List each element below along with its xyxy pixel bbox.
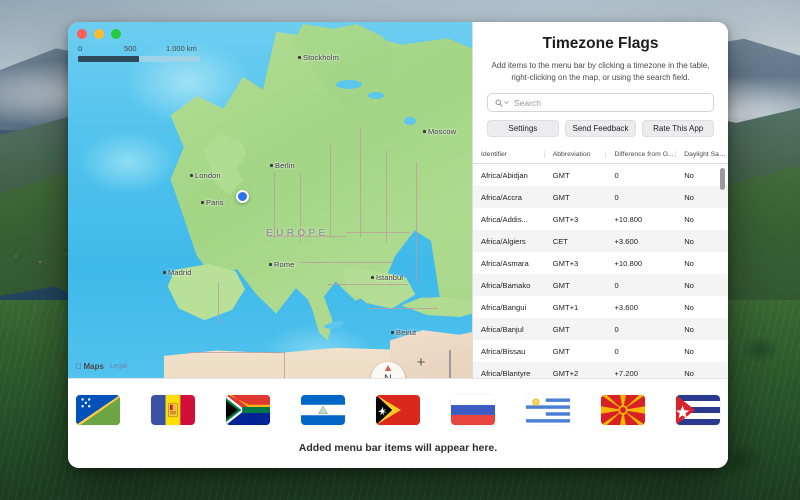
table-row[interactable]: Africa/BlantyreGMT+2+7.200No: [473, 362, 728, 378]
map-zoom-slider[interactable]: [444, 350, 456, 378]
flag-icon[interactable]: [676, 395, 720, 425]
flag-list: [76, 395, 720, 425]
cell-identifier: Africa/Bamako: [473, 281, 545, 290]
cell-abbreviation: GMT: [545, 325, 607, 334]
table-row[interactable]: Africa/AbidjanGMT0No: [473, 164, 728, 186]
search-container: Search: [487, 93, 714, 112]
cell-identifier: Africa/Accra: [473, 193, 545, 202]
panel-subtitle: Add items to the menu bar by clicking a …: [487, 60, 714, 83]
table-row[interactable]: Africa/BissauGMT0No: [473, 340, 728, 362]
flag-icon[interactable]: [376, 395, 420, 425]
flag-icon[interactable]: [526, 395, 570, 425]
rate-this-app-button[interactable]: Rate This App: [642, 120, 714, 137]
search-icon[interactable]: [495, 99, 509, 107]
cell-difference: 0: [606, 325, 676, 334]
flag-icon[interactable]: [76, 395, 120, 425]
map-city-label-rome: Rome: [274, 260, 294, 269]
cell-abbreviation: GMT+2: [545, 369, 607, 378]
table-header-row: Identifier Abbreviation Difference from …: [473, 147, 728, 164]
table-body[interactable]: Africa/AbidjanGMT0NoAfrica/AccraGMT0NoAf…: [473, 164, 728, 378]
map-city-label-beirut: Beirut: [396, 328, 416, 337]
flag-icon[interactable]: [451, 395, 495, 425]
window-traffic-lights[interactable]: [77, 29, 121, 39]
cell-abbreviation: GMT: [545, 171, 607, 180]
map-location-pin[interactable]: [236, 190, 249, 203]
cell-identifier: Africa/Blantyre: [473, 369, 545, 378]
cell-abbreviation: GMT: [545, 281, 607, 290]
map-attribution:  Maps Legal: [76, 362, 127, 371]
map-city-label-berlin: Berlin: [275, 161, 295, 170]
table-row[interactable]: Africa/AlgiersCET+3.600No: [473, 230, 728, 252]
window-body: EUROPE Stockholm Moscow Berlin London Pa…: [68, 22, 728, 378]
menu-bar-items-tray: Added menu bar items will appear here.: [68, 378, 728, 468]
cell-difference: +10.800: [606, 215, 676, 224]
cell-difference: 0: [606, 171, 676, 180]
column-header-dst[interactable]: Daylight Saving Ti...: [676, 151, 728, 158]
zoom-in-button[interactable]: +: [417, 352, 426, 373]
cell-identifier: Africa/Addis...: [473, 215, 545, 224]
map-city-label-istanbul: Istanbul: [376, 273, 403, 282]
map-city-label-moscow: Moscow: [428, 127, 456, 136]
send-feedback-button[interactable]: Send Feedback: [565, 120, 637, 137]
table-row[interactable]: Africa/BanguiGMT+1+3.600No: [473, 296, 728, 318]
map-inland-lake: [336, 80, 362, 89]
action-button-row: Settings Send Feedback Rate This App: [487, 120, 714, 137]
map-scale-bar: 0 500 1.000 km: [78, 44, 200, 62]
flag-icon[interactable]: [301, 395, 345, 425]
map-city-label-london: London: [195, 171, 221, 180]
settings-panel: Timezone Flags Add items to the menu bar…: [472, 22, 728, 378]
page-title: Timezone Flags: [473, 35, 728, 53]
cell-difference: +10.800: [606, 259, 676, 268]
scale-label-max: 1.000 km: [166, 44, 197, 53]
cell-difference: +7.200: [606, 369, 676, 378]
chevron-down-icon: [504, 100, 509, 105]
cell-identifier: Africa/Banjul: [473, 325, 545, 334]
map-zoom-controls[interactable]: + −: [410, 352, 432, 378]
cell-difference: +3.600: [606, 303, 676, 312]
apple-icon: : [76, 362, 82, 371]
table-scrollbar[interactable]: [720, 168, 725, 374]
cell-difference: 0: [606, 281, 676, 290]
cell-abbreviation: GMT+3: [545, 215, 607, 224]
cell-identifier: Africa/Bangui: [473, 303, 545, 312]
cell-difference: 0: [606, 193, 676, 202]
column-header-difference[interactable]: Difference from G...: [606, 151, 676, 158]
zoom-out-button[interactable]: −: [417, 373, 426, 378]
cell-abbreviation: GMT: [545, 193, 607, 202]
scale-label-mid: 500: [124, 44, 137, 53]
map-region-label-europe: EUROPE: [266, 228, 329, 239]
cell-abbreviation: GMT: [545, 347, 607, 356]
flag-icon[interactable]: [226, 395, 270, 425]
cell-difference: +3.600: [606, 237, 676, 246]
minimize-button[interactable]: [94, 29, 104, 39]
map-view[interactable]: EUROPE Stockholm Moscow Berlin London Pa…: [68, 22, 472, 378]
cell-abbreviation: CET: [545, 237, 607, 246]
timezone-table[interactable]: Identifier Abbreviation Difference from …: [473, 147, 728, 378]
map-city-label-madrid: Madrid: [168, 268, 192, 277]
tray-empty-note: Added menu bar items will appear here.: [299, 442, 497, 454]
app-window: EUROPE Stockholm Moscow Berlin London Pa…: [68, 22, 728, 468]
map-inland-lake: [368, 92, 384, 99]
apple-maps-logo:  Maps: [76, 362, 104, 371]
search-input[interactable]: Search: [514, 98, 541, 108]
close-button[interactable]: [77, 29, 87, 39]
map-city-label-stockholm: Stockholm: [303, 53, 339, 62]
table-row[interactable]: Africa/BanjulGMT0No: [473, 318, 728, 340]
search-field[interactable]: Search: [487, 93, 714, 112]
column-header-identifier[interactable]: Identifier: [473, 151, 545, 158]
column-header-abbreviation[interactable]: Abbreviation: [545, 151, 607, 158]
cell-identifier: Africa/Asmara: [473, 259, 545, 268]
cell-identifier: Africa/Algiers: [473, 237, 545, 246]
zoom-slider-rail: [449, 350, 451, 378]
map-inland-lake: [404, 117, 416, 125]
table-row[interactable]: Africa/AsmaraGMT+3+10.800No: [473, 252, 728, 274]
table-row[interactable]: Africa/BamakoGMT0No: [473, 274, 728, 296]
flag-icon[interactable]: [151, 395, 195, 425]
table-row[interactable]: Africa/Addis...GMT+3+10.800No: [473, 208, 728, 230]
cell-identifier: Africa/Abidjan: [473, 171, 545, 180]
zoom-button[interactable]: [111, 29, 121, 39]
scrollbar-thumb[interactable]: [720, 168, 725, 190]
compass-needle-icon: [385, 365, 391, 371]
maps-brand-label: Maps: [84, 362, 104, 371]
scale-label-zero: 0: [78, 44, 82, 53]
settings-button[interactable]: Settings: [487, 120, 559, 137]
compass-north-label: N: [384, 373, 392, 378]
cell-identifier: Africa/Bissau: [473, 347, 545, 356]
cell-abbreviation: GMT+3: [545, 259, 607, 268]
cell-abbreviation: GMT+1: [545, 303, 607, 312]
table-row[interactable]: Africa/AccraGMT0No: [473, 186, 728, 208]
map-city-label-paris: Paris: [206, 198, 224, 207]
cell-difference: 0: [606, 347, 676, 356]
flag-icon[interactable]: [601, 395, 645, 425]
legal-link[interactable]: Legal: [110, 363, 127, 370]
